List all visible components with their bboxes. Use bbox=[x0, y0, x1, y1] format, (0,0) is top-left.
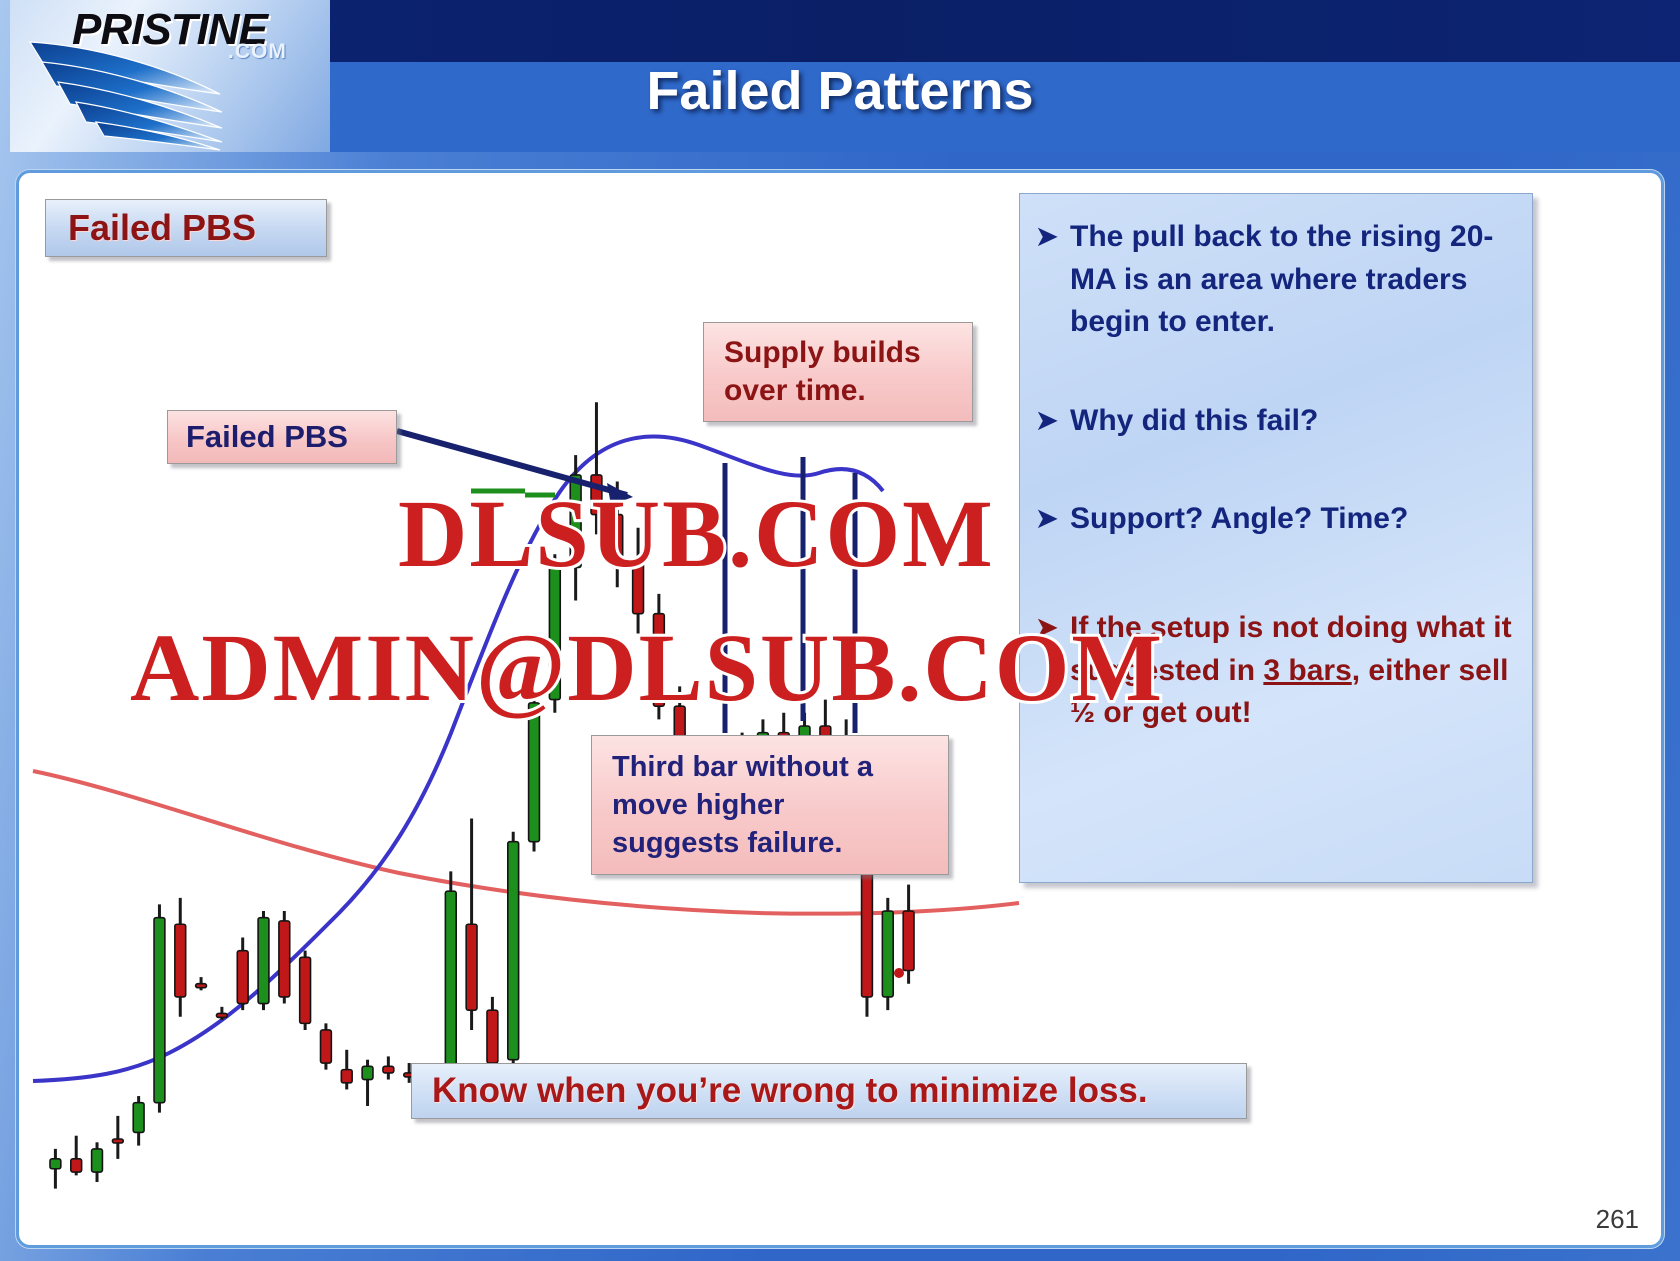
candle-body bbox=[154, 918, 165, 1103]
candle-body bbox=[903, 911, 914, 970]
candle-body bbox=[445, 891, 456, 1076]
failed-pbs-heading-text: Failed PBS bbox=[68, 207, 256, 249]
stray-point-marker bbox=[894, 968, 904, 978]
candle-body bbox=[50, 1159, 61, 1169]
candle-body bbox=[237, 951, 248, 1004]
candle-body bbox=[216, 1013, 227, 1017]
page-title: Failed Patterns bbox=[0, 60, 1680, 122]
note-item-4-text: If the setup is not doing what it sugges… bbox=[1070, 607, 1514, 735]
candle-body bbox=[279, 921, 290, 997]
consolidation-ticks bbox=[471, 491, 555, 495]
third-bar-line-1: Third bar without a bbox=[612, 748, 873, 786]
candle-body bbox=[570, 475, 581, 568]
candle-body bbox=[466, 924, 477, 1010]
bottom-caption-box: Know when you’re wrong to minimize loss. bbox=[411, 1063, 1247, 1119]
note-item-2-text: Why did this fail? bbox=[1070, 400, 1318, 443]
header-dark-band bbox=[300, 0, 1680, 62]
bullet-arrow-icon: ➤ bbox=[1036, 607, 1070, 647]
failed-pbs-heading-box: Failed PBS bbox=[45, 199, 327, 257]
note-item-3: ➤ Support? Angle? Time? bbox=[1036, 498, 1514, 541]
candle-body bbox=[612, 515, 623, 568]
candle-body bbox=[112, 1139, 123, 1143]
candle-body bbox=[133, 1103, 144, 1133]
third-bar-line-2: move higher bbox=[612, 786, 784, 824]
note-item-4-underlined: 3 bars bbox=[1263, 654, 1351, 687]
pullback-marker-lines bbox=[725, 457, 855, 733]
note-spacer bbox=[1036, 344, 1514, 400]
note-item-4: ➤ If the setup is not doing what it sugg… bbox=[1036, 607, 1514, 735]
candle-body bbox=[341, 1070, 352, 1083]
third-bar-line-3: suggests failure. bbox=[612, 824, 842, 862]
candle-body bbox=[591, 475, 602, 515]
failed-pbs-callout-box: Failed PBS bbox=[167, 410, 397, 464]
note-item-1: ➤ The pull back to the rising 20-MA is a… bbox=[1036, 216, 1514, 344]
slide-body-card: Failed PBS Failed PBS Supply builds over… bbox=[16, 170, 1664, 1248]
notes-panel: ➤ The pull back to the rising 20-MA is a… bbox=[1019, 193, 1533, 883]
candle-body bbox=[633, 561, 644, 614]
candle-body bbox=[549, 567, 560, 699]
supply-line-2: over time. bbox=[724, 372, 866, 410]
supply-line-1: Supply builds bbox=[724, 334, 921, 372]
candle-body bbox=[321, 1030, 332, 1063]
slide-root: PRISTINE .COM Failed Patterns bbox=[0, 0, 1680, 1261]
candle-body bbox=[529, 703, 540, 842]
candle-body bbox=[383, 1066, 394, 1073]
note-item-1-text: The pull back to the rising 20-MA is an … bbox=[1070, 216, 1514, 344]
candle-body bbox=[175, 924, 186, 997]
candle-body bbox=[882, 911, 893, 997]
candle-body bbox=[653, 614, 664, 707]
candle-body bbox=[92, 1149, 103, 1172]
bullet-arrow-icon: ➤ bbox=[1036, 498, 1070, 538]
note-spacer bbox=[1036, 442, 1514, 498]
note-item-3-text: Support? Angle? Time? bbox=[1070, 498, 1408, 541]
candle-body bbox=[258, 918, 269, 1004]
bullet-arrow-icon: ➤ bbox=[1036, 400, 1070, 440]
candle-body bbox=[71, 1159, 82, 1172]
note-spacer bbox=[1036, 541, 1514, 607]
supply-builds-callout: Supply builds over time. bbox=[703, 322, 973, 422]
bullet-arrow-icon: ➤ bbox=[1036, 216, 1070, 256]
candle-body bbox=[508, 842, 519, 1060]
candle-body bbox=[362, 1066, 373, 1079]
slide-header: PRISTINE .COM Failed Patterns bbox=[0, 0, 1680, 152]
failed-pbs-callout-text: Failed PBS bbox=[186, 419, 348, 455]
bottom-caption-text: Know when you’re wrong to minimize loss. bbox=[432, 1071, 1148, 1111]
third-bar-callout: Third bar without a move higher suggests… bbox=[591, 735, 949, 875]
candle-body bbox=[196, 984, 207, 988]
note-item-2: ➤ Why did this fail? bbox=[1036, 400, 1514, 443]
candle-body bbox=[487, 1010, 498, 1063]
candle-body bbox=[300, 957, 311, 1023]
page-number: 261 bbox=[1596, 1204, 1639, 1235]
